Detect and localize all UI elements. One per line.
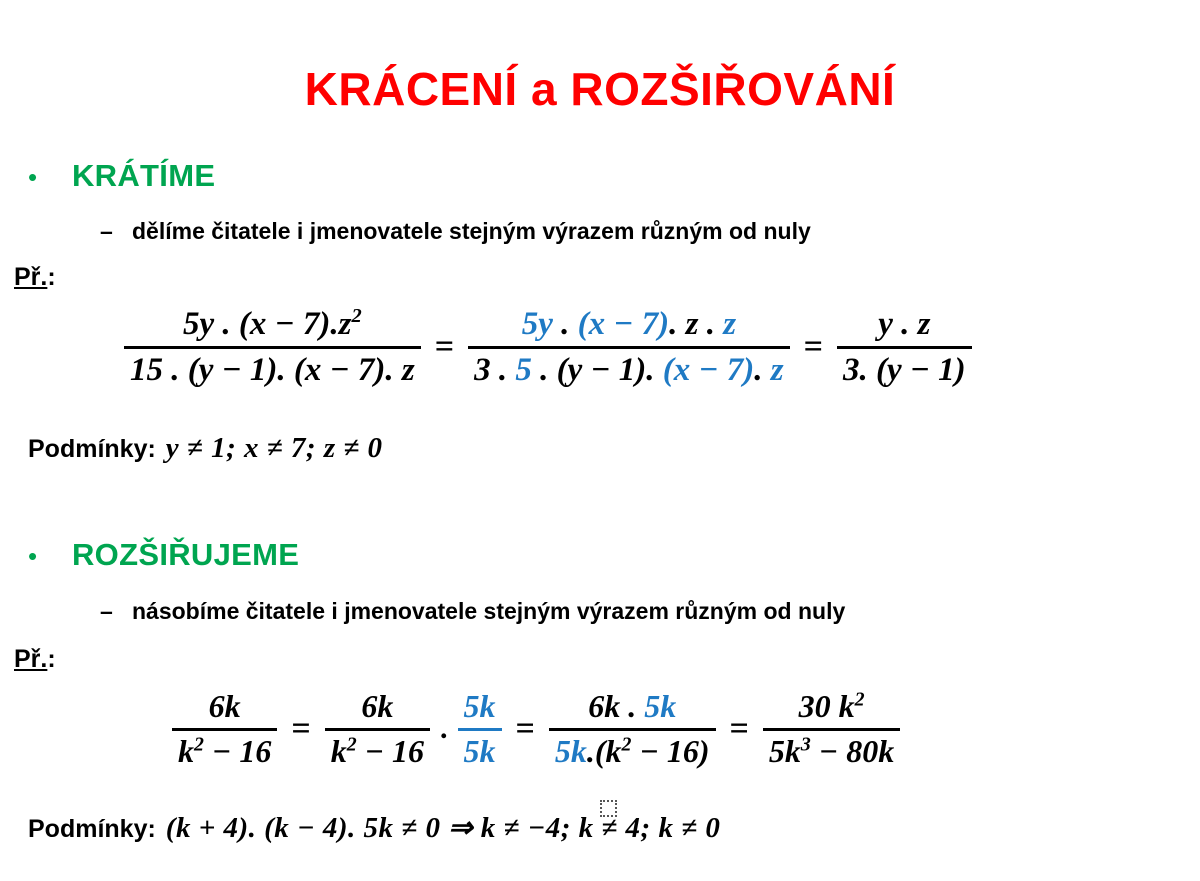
fraction-2-denominator: 3 . 5 . (y − 1). (x − 7). z	[468, 351, 790, 390]
fraction-1-original: 5y . (x − 7).z2 15 . (y − 1). (x − 7). z	[124, 305, 421, 390]
slide-canvas: KRÁCENÍ a ROZŠIŘOVÁNÍ • KRÁTÍME – dělíme…	[0, 0, 1200, 881]
fraction-2-numerator: 5y . (x − 7). z . z	[516, 305, 742, 344]
subbullet-item-kratime: – dělíme čitatele i jmenovatele stejným …	[100, 218, 811, 245]
example-label-2-colon: :	[47, 645, 55, 673]
conditions-math-2: (k + 4). (k − 4). 5k ≠ 0 ⇒ k ≠ −4; k ≠ 4…	[166, 810, 721, 845]
equation-rozsirujeme: 6k k2 − 16 = 6k k2 − 16 . 5k 5k = 6k . 5…	[168, 688, 904, 771]
dash-icon: –	[100, 218, 132, 245]
fraction-bar	[468, 346, 790, 349]
subbullet-item-rozsirujeme: – násobíme čitatele i jmenovatele stejný…	[100, 598, 845, 625]
fraction-6-numerator: 5k	[458, 688, 502, 726]
fraction-8-result: 30 k2 5k3 − 80k	[763, 688, 900, 771]
fraction-7-denominator: 5k.(k2 − 16)	[549, 733, 716, 771]
fraction-1-numerator: 5y . (x − 7).z2	[177, 305, 368, 344]
equals-sign-2: =	[794, 328, 833, 366]
bullet-heading-rozsirujeme: ROZŠIŘUJEME	[72, 537, 299, 573]
multiplication-dot: .	[434, 712, 454, 746]
equals-sign-4: =	[506, 710, 545, 748]
fraction-bar	[549, 728, 716, 731]
example-label-1-text: Př.	[14, 263, 47, 291]
fraction-3-denominator: 3. (y − 1)	[837, 351, 972, 390]
fraction-6-denominator: 5k	[458, 733, 502, 771]
equals-sign-3: =	[281, 710, 320, 748]
fraction-5-original: 6k k2 − 16	[325, 688, 430, 771]
fraction-7-numerator: 6k . 5k	[582, 688, 682, 726]
bullet-dot-icon: •	[28, 543, 72, 569]
fraction-3-result: y . z 3. (y − 1)	[837, 305, 972, 390]
example-label-2: Př.:	[14, 645, 56, 674]
bullet-heading-kratime: KRÁTÍME	[72, 158, 215, 194]
fraction-2-factored: 5y . (x − 7). z . z 3 . 5 . (y − 1). (x …	[468, 305, 790, 390]
fraction-8-denominator: 5k3 − 80k	[763, 733, 900, 771]
conditions-label-2: Podmínky:	[28, 815, 156, 844]
fraction-5-denominator: k2 − 16	[325, 733, 430, 771]
fraction-bar	[763, 728, 900, 731]
fraction-4-numerator: 6k	[203, 688, 247, 726]
fraction-1-denominator: 15 . (y − 1). (x − 7). z	[124, 351, 421, 390]
equals-sign-1: =	[425, 328, 464, 366]
fraction-bar	[837, 346, 972, 349]
fraction-bar	[458, 728, 502, 731]
conditions-label-1: Podmínky:	[28, 435, 156, 464]
example-label-1: Př.:	[14, 263, 56, 292]
dash-icon: –	[100, 598, 132, 625]
bullet-dot-icon: •	[28, 164, 72, 190]
fraction-bar	[124, 346, 421, 349]
example-label-2-text: Př.	[14, 645, 47, 673]
fraction-8-numerator: 30 k2	[793, 688, 871, 726]
fraction-bar	[172, 728, 277, 731]
conditions-row-2: Podmínky: (k + 4). (k − 4). 5k ≠ 0 ⇒ k ≠…	[28, 810, 720, 845]
fraction-4-denominator: k2 − 16	[172, 733, 277, 771]
bullet-item-rozsirujeme[interactable]: • ROZŠIŘUJEME	[28, 537, 299, 573]
fraction-5-numerator: 6k	[355, 688, 399, 726]
equation-kratime: 5y . (x − 7).z2 15 . (y − 1). (x − 7). z…	[120, 305, 976, 390]
conditions-row-1: Podmínky: y ≠ 1; x ≠ 7; z ≠ 0	[28, 432, 383, 465]
subbullet-text-rozsirujeme: násobíme čitatele i jmenovatele stejným …	[132, 598, 845, 625]
fraction-bar	[325, 728, 430, 731]
example-label-1-colon: :	[47, 263, 55, 291]
subbullet-text-kratime: dělíme čitatele i jmenovatele stejným vý…	[132, 218, 811, 245]
bullet-item-kratime[interactable]: • KRÁTÍME	[28, 158, 215, 194]
fraction-4-original: 6k k2 − 16	[172, 688, 277, 771]
page-title: KRÁCENÍ a ROZŠIŘOVÁNÍ	[0, 62, 1200, 116]
conditions-math-1: y ≠ 1; x ≠ 7; z ≠ 0	[166, 432, 383, 465]
fraction-7-expanded: 6k . 5k 5k.(k2 − 16)	[549, 688, 716, 771]
fraction-3-numerator: y . z	[872, 305, 936, 344]
fraction-6-multiplier: 5k 5k	[458, 688, 502, 771]
equals-sign-5: =	[720, 710, 759, 748]
